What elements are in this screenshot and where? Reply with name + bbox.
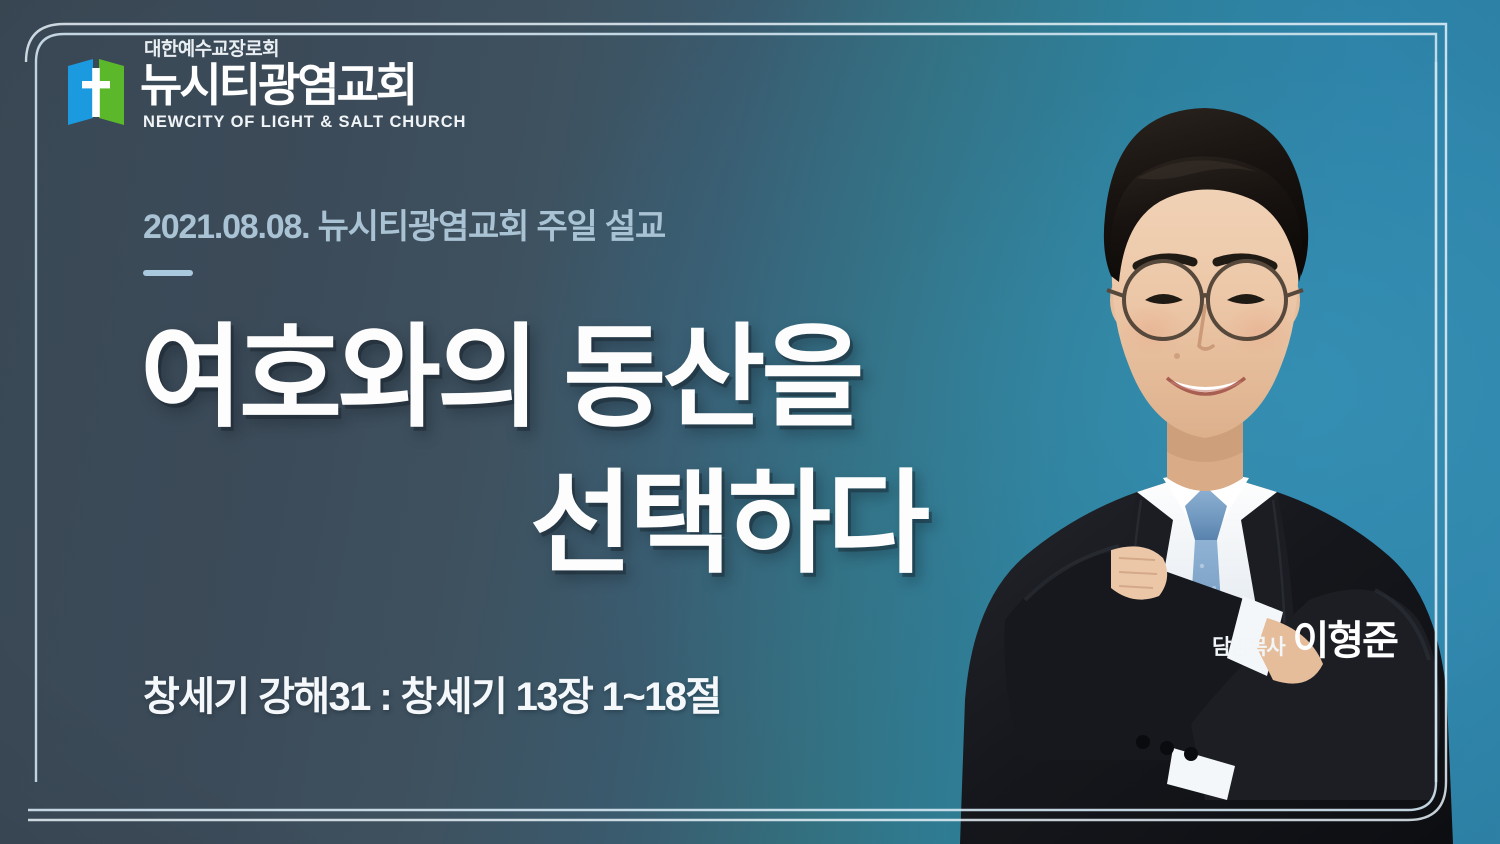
speaker-role: 담임목사 xyxy=(1212,631,1284,661)
speaker-name: 이형준 xyxy=(1292,608,1396,666)
church-name-english: NEWCITY OF LIGHT & SALT CHURCH xyxy=(143,114,466,131)
scripture-reference: 창세기 강해31 : 창세기 13장 1~18절 xyxy=(143,664,721,722)
pastor-photo xyxy=(905,0,1500,844)
accent-divider xyxy=(143,270,193,276)
sermon-title: 여호와의 동산을 선택하다 xyxy=(0,305,932,596)
church-logo: 대한예수교장로회 뉴시티광염교회 NEWCITY OF LIGHT & SALT… xyxy=(64,40,466,130)
sermon-title-line-2: 선택하다 xyxy=(0,451,932,597)
sermon-title-card: 담임목사 이형준 대한예수교장로회 뉴시티광염교회 NEWCITY OF LIG… xyxy=(0,0,1500,844)
date-service-line: 2021.08.08. 뉴시티광염교회 주일 설교 xyxy=(143,199,665,248)
denomination-label: 대한예수교장로회 xyxy=(144,40,466,59)
open-book-cross-logo-icon xyxy=(64,56,128,128)
church-name-korean: 뉴시티광염교회 xyxy=(140,62,466,109)
sermon-title-line-1: 여호와의 동산을 xyxy=(0,305,932,451)
speaker-name-badge: 담임목사 이형준 xyxy=(1212,608,1397,666)
